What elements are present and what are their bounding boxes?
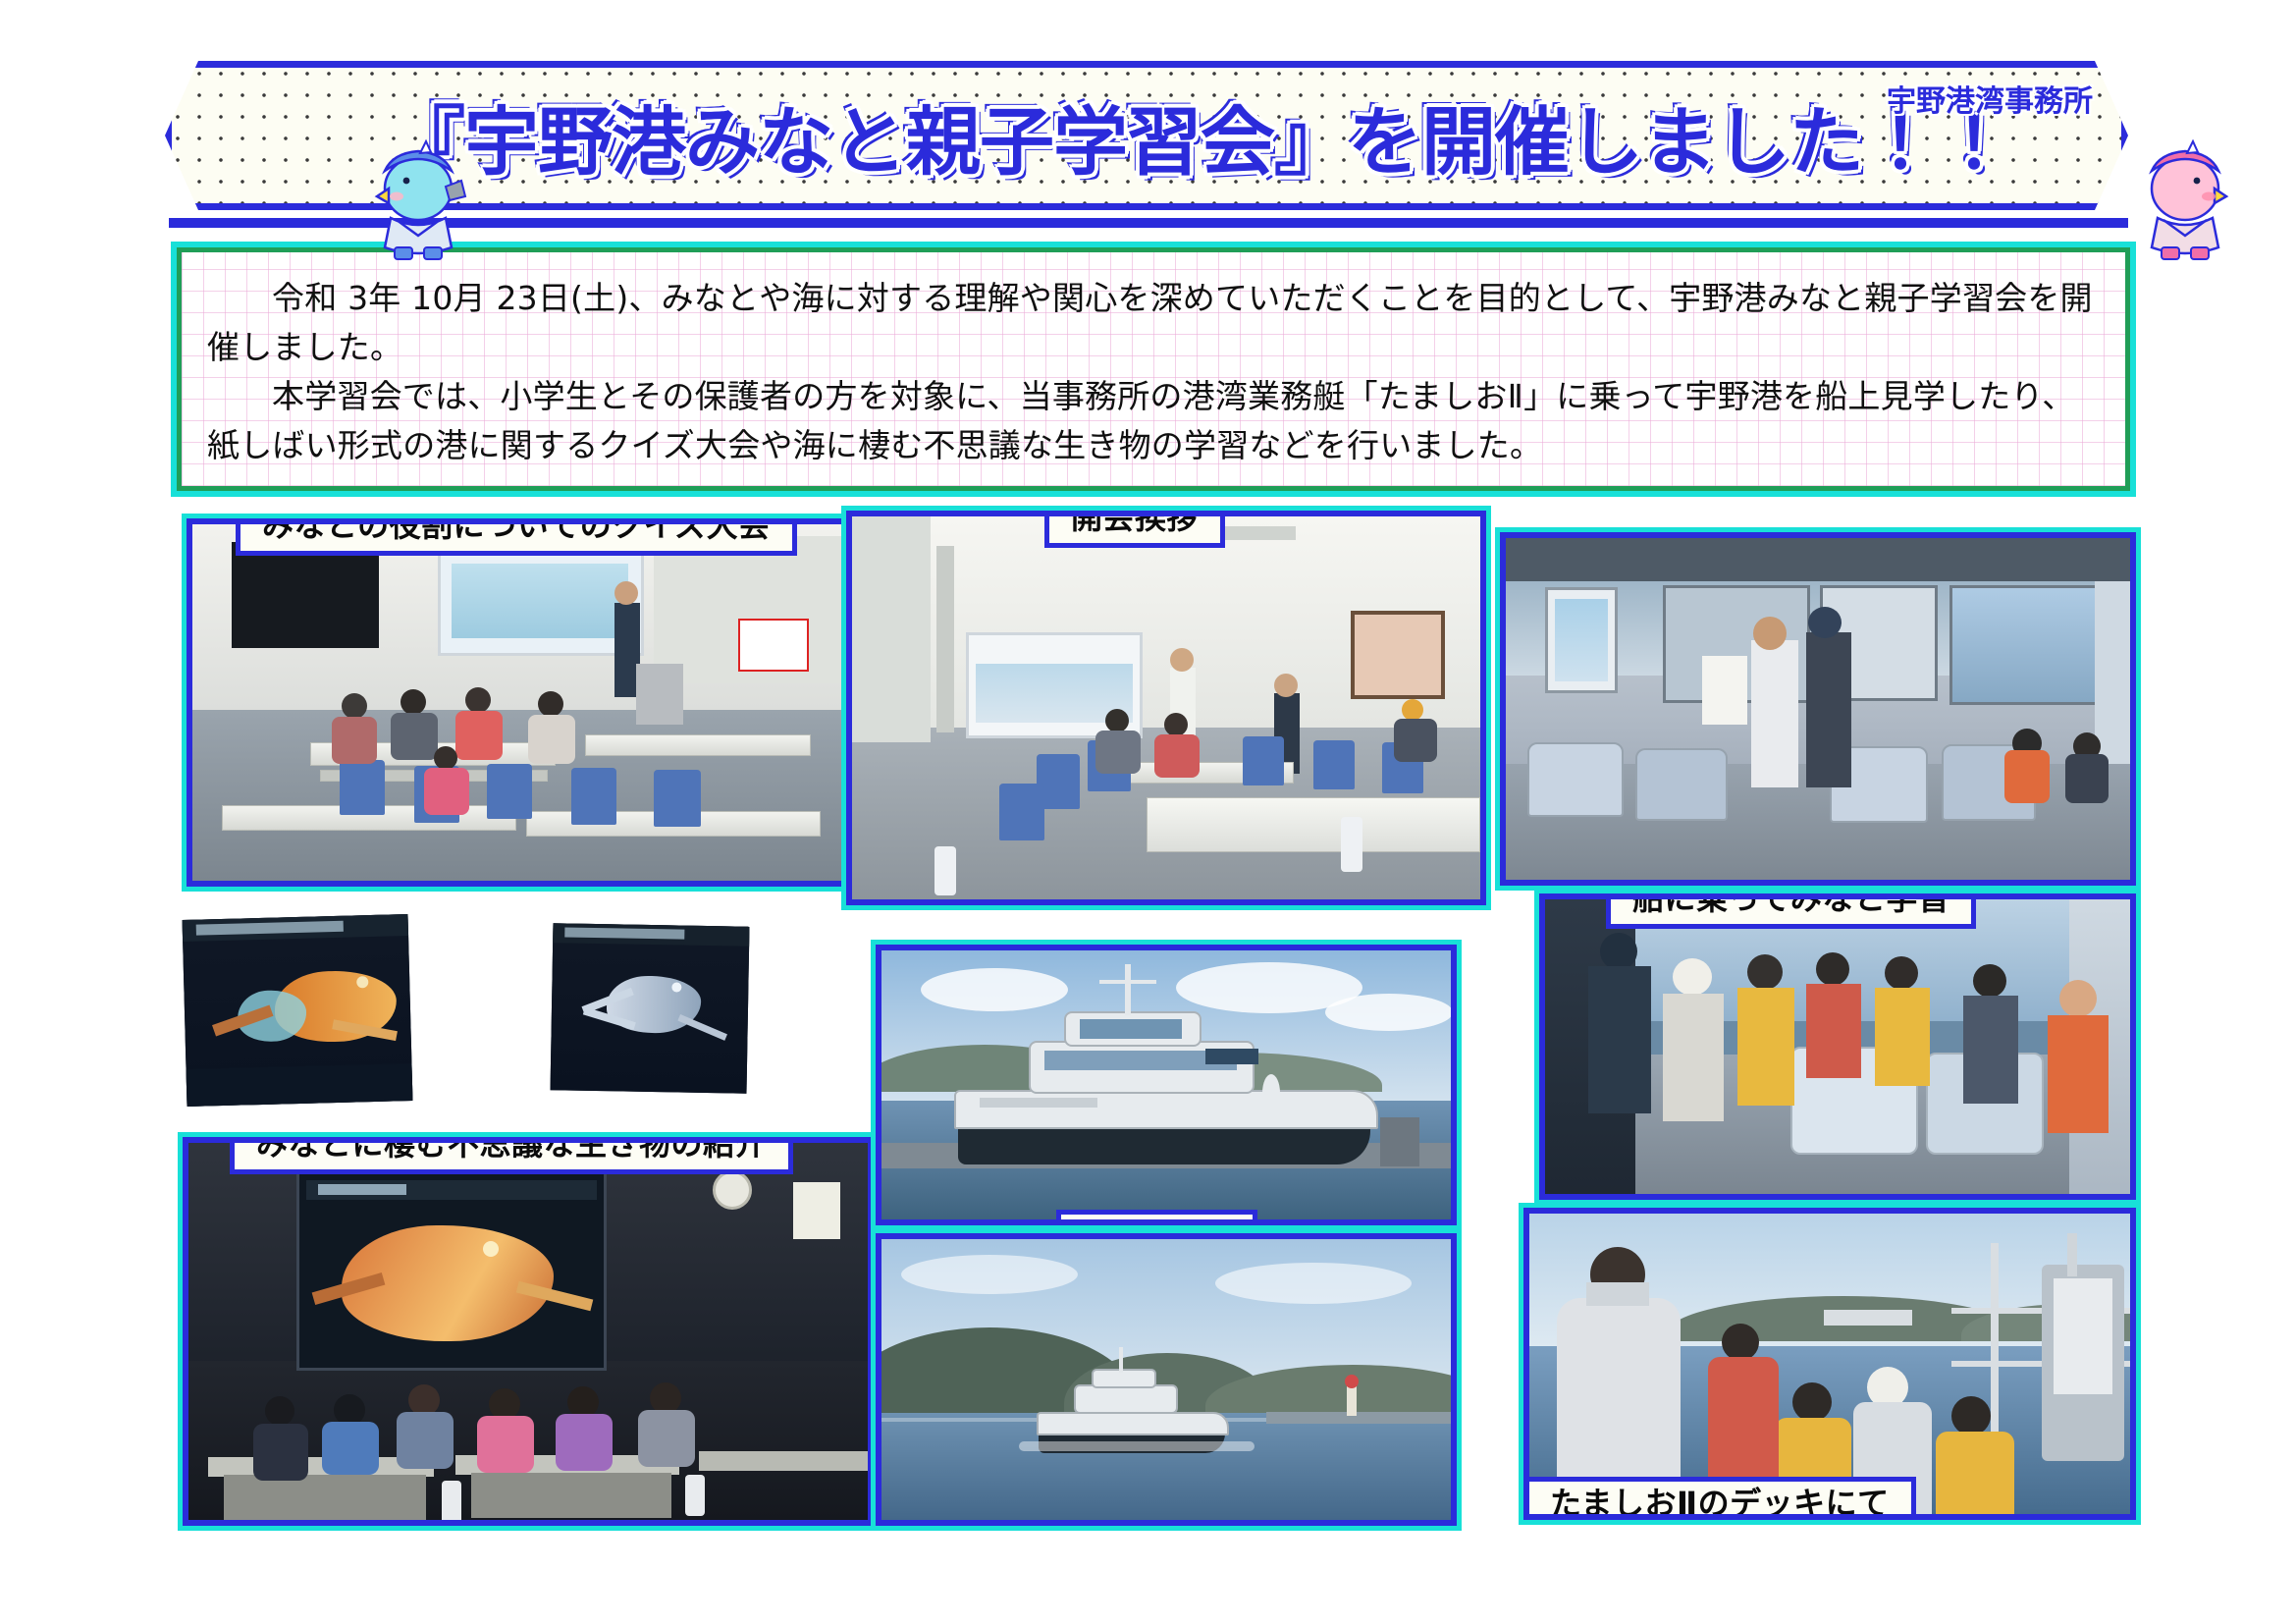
caption-tamashio2-boat: たましおⅡ [1056, 1210, 1257, 1225]
bird-mascot-pink-icon [2128, 128, 2246, 265]
photo-tamashio2-deck: たましおⅡのデッキにて [1523, 1208, 2136, 1520]
photo-creature-slide-right [551, 923, 750, 1093]
office-name-label: 宇野港湾事務所 [1887, 77, 2093, 120]
photo-creature-slide-left [183, 914, 413, 1107]
caption-tamashio2-deck: たましおⅡのデッキにて [1523, 1477, 1916, 1520]
intro-paragraph-1: 令和 3年 10月 23日(土)、みなとや海に対する理解や関心を深めていただくこ… [207, 274, 2100, 372]
photo-boat-cabin-study [1500, 532, 2136, 886]
caption-quiz-session: みなとの役割についてのクイズ大会 [236, 518, 797, 556]
photo-sea-creature-intro: みなとに棲む不思議な生き物の紹介 [183, 1137, 874, 1526]
poster-page: 宇野港湾事務所 『宇野港みなと親子学習会』を開催しました！！ 令和 3年 10月… [0, 0, 2296, 1624]
bird-mascot-blue-icon [361, 128, 479, 265]
intro-paragraph-2: 本学習会では、小学生とその保護者の方を対象に、当事務所の港湾業務艇「たましおⅡ」… [207, 372, 2100, 470]
photo-opening-greeting: 開会挨拶 [846, 511, 1486, 905]
intro-text-box: 令和 3年 10月 23日(土)、みなとや海に対する理解や関心を深めていただくこ… [177, 247, 2130, 491]
photo-tamashio2-underway [876, 1233, 1457, 1526]
caption-opening-greeting: 開会挨拶 [1044, 511, 1225, 548]
page-title: 『宇野港みなと親子学習会』を開催しました！！ [391, 81, 2010, 189]
photo-tamashio2-boat: たましおⅡ [876, 945, 1457, 1225]
header-banner: 宇野港湾事務所 『宇野港みなと親子学習会』を開催しました！！ [165, 61, 2128, 210]
caption-sea-creature-intro: みなとに棲む不思議な生き物の紹介 [230, 1137, 793, 1174]
photo-quiz-session: みなとの役割についてのクイズ大会 [187, 518, 864, 887]
caption-boat-study: 船に乗ってみなと学習 [1606, 893, 1976, 929]
photo-boat-study: 船に乗ってみなと学習 [1539, 893, 2136, 1200]
